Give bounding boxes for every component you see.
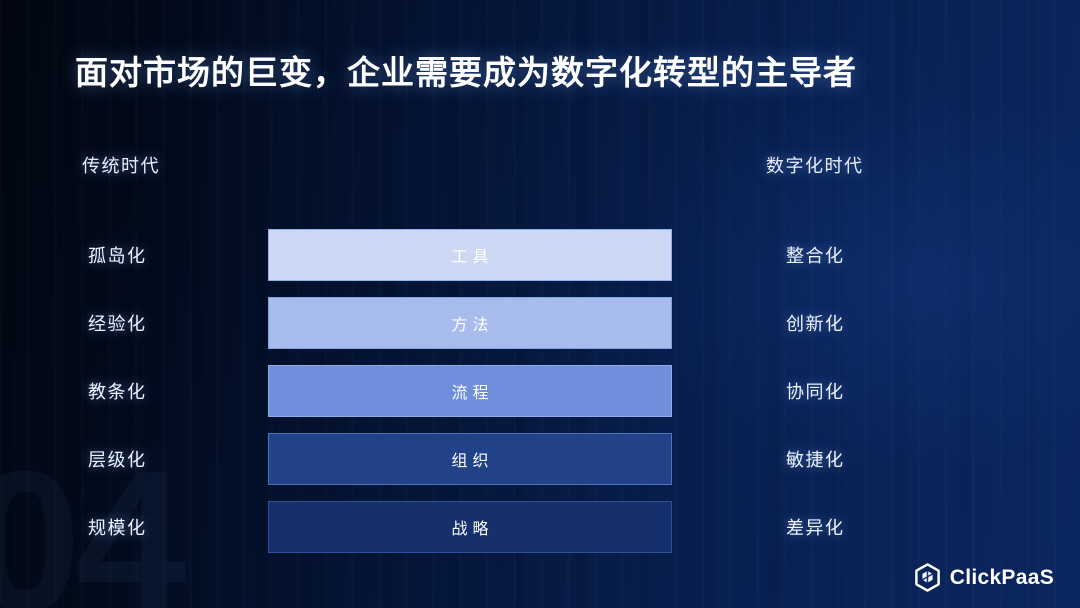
layer-bar-label: 工具	[446, 243, 493, 267]
brand-logo: ClickPaaS	[914, 563, 1054, 592]
layer-bar-label: 方法	[446, 311, 493, 335]
digital-label: 整合化	[786, 229, 845, 281]
traditional-label: 孤岛化	[88, 229, 147, 281]
layer-bar-label: 组织	[446, 447, 493, 471]
column-header-digital: 数字化时代	[766, 152, 864, 178]
comparison-row: 孤岛化工具整合化	[0, 229, 1080, 281]
traditional-label: 层级化	[88, 433, 147, 485]
digital-label: 创新化	[786, 297, 845, 349]
comparison-row: 经验化方法创新化	[0, 297, 1080, 349]
digital-label: 敏捷化	[786, 433, 845, 485]
slide-canvas: 04 面对市场的巨变，企业需要成为数字化转型的主导者 传统时代 数字化时代 孤岛…	[0, 0, 1080, 608]
comparison-rows: 孤岛化工具整合化经验化方法创新化教条化流程协同化层级化组织敏捷化规模化战略差异化	[0, 229, 1080, 553]
layer-bar[interactable]: 组织	[268, 433, 672, 485]
layer-bar-label: 流程	[446, 379, 493, 403]
digital-label: 协同化	[786, 365, 845, 417]
column-header-traditional: 传统时代	[82, 152, 160, 178]
layer-bar[interactable]: 方法	[268, 297, 672, 349]
layer-bar[interactable]: 战略	[268, 501, 672, 553]
comparison-row: 规模化战略差异化	[0, 501, 1080, 553]
comparison-row: 层级化组织敏捷化	[0, 433, 1080, 485]
layer-bar[interactable]: 工具	[268, 229, 672, 281]
traditional-label: 经验化	[88, 297, 147, 349]
brand-name: ClickPaaS	[950, 566, 1054, 590]
comparison-row: 教条化流程协同化	[0, 365, 1080, 417]
page-title: 面对市场的巨变，企业需要成为数字化转型的主导者	[75, 46, 857, 94]
clickpaas-hexagon-icon	[914, 563, 941, 592]
traditional-label: 教条化	[88, 365, 147, 417]
digital-label: 差异化	[786, 501, 845, 553]
traditional-label: 规模化	[88, 501, 147, 553]
layer-bar[interactable]: 流程	[268, 365, 672, 417]
layer-bar-label: 战略	[446, 515, 493, 539]
